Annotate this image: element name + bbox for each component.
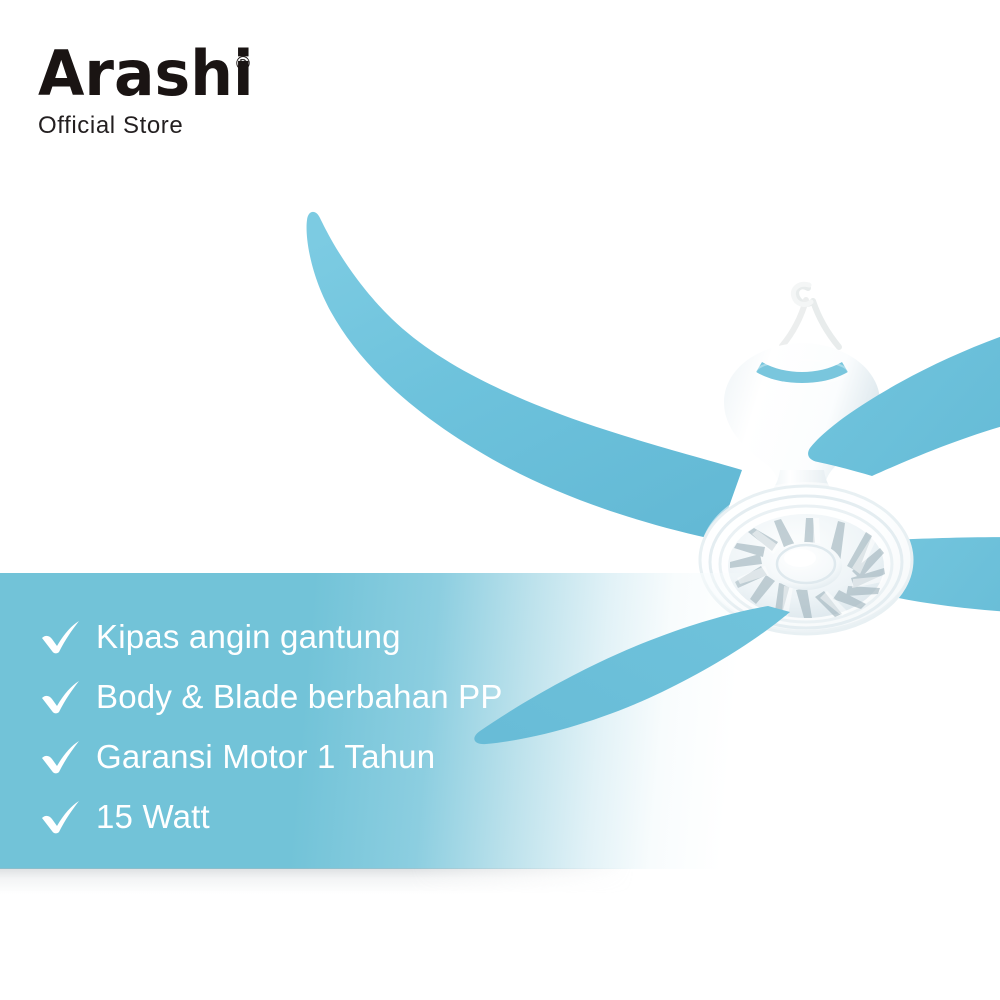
hanging-hook-icon [782,284,839,347]
fan-canopy [724,343,880,498]
feature-item: Kipas angin gantung [40,607,760,667]
product-image-canvas: Arashi ® Official Store [0,0,1000,1000]
feature-label: Garansi Motor 1 Tahun [96,738,435,776]
brand-subtitle: Official Store [38,112,358,140]
feature-item: Garansi Motor 1 Tahun [40,727,760,787]
feature-label: 15 Watt [96,798,210,836]
feature-list: Kipas angin gantung Body & Blade berbaha… [0,573,760,869]
feature-item: Body & Blade berbahan PP [40,667,760,727]
check-icon [40,620,96,654]
brand-name: Arashi [38,42,254,106]
fan-blade-right-upper [808,326,1000,476]
banner-drop-shadow [0,868,660,894]
fan-blade-upper-left [307,212,742,540]
registered-trademark-icon: ® [236,54,250,76]
feature-label: Body & Blade berbahan PP [96,678,503,716]
check-icon [40,740,96,774]
brand-logo: Arashi ® Official Store [38,42,358,140]
feature-item: 15 Watt [40,787,760,847]
check-icon [40,800,96,834]
fan-blade-right-lower [834,537,1000,614]
feature-label: Kipas angin gantung [96,618,401,656]
check-icon [40,680,96,714]
